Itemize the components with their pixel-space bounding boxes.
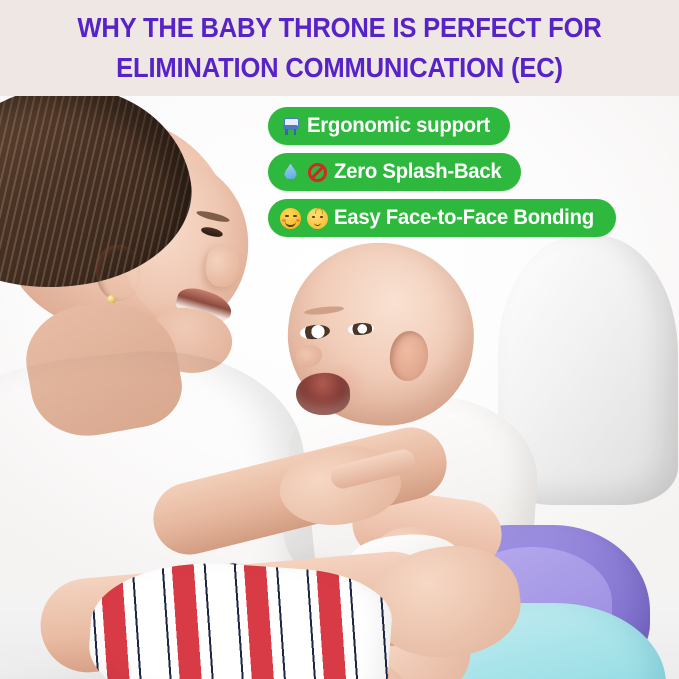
feature-badge-label: Zero Splash-Back (334, 160, 501, 184)
header-band: WHY THE BABY THRONE IS PERFECT FOR ELIMI… (0, 0, 679, 96)
feature-badge-face-to-face-bonding: Easy Face-to-Face Bonding (268, 199, 616, 237)
prohibited-icon (307, 162, 328, 183)
smiling-face-icon (280, 208, 301, 229)
feature-badge-ergonomic-support: Ergonomic support (268, 107, 510, 145)
poster-root: WHY THE BABY THRONE IS PERFECT FOR ELIMI… (0, 0, 679, 679)
baby-face-icon (307, 208, 328, 229)
feature-badge-zero-splash-back: Zero Splash-Back (268, 153, 521, 191)
baby-open-mouth (295, 372, 350, 416)
page-title-line-1: WHY THE BABY THRONE IS PERFECT FOR (24, 8, 655, 48)
feature-badge-list: Ergonomic support Zero Splash-Back Easy … (268, 107, 648, 237)
feature-badge-label: Ergonomic support (307, 114, 490, 138)
page-title-line-2: ELIMINATION COMMUNICATION (EC) (24, 48, 655, 88)
chair-icon (280, 116, 301, 137)
page-title: WHY THE BABY THRONE IS PERFECT FOR ELIMI… (24, 8, 655, 88)
feature-badge-label: Easy Face-to-Face Bonding (334, 206, 594, 230)
droplet-icon (280, 162, 301, 183)
